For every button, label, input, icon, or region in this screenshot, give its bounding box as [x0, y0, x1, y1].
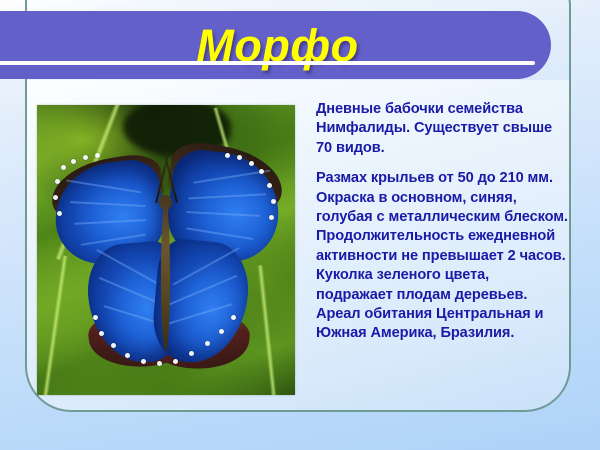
description-text-block: Дневные бабочки семейства Нимфалиды. Сущ… [316, 100, 568, 344]
paragraph-1: Дневные бабочки семейства Нимфалиды. Сущ… [316, 100, 568, 158]
page-title: Морфо [0, 11, 551, 79]
butterfly-figure [37, 105, 295, 395]
title-underline-rule [0, 61, 535, 65]
title-bar: Морфо [0, 11, 551, 79]
paragraph-2: Размах крыльев от 50 до 210 мм. Окраска … [316, 169, 568, 344]
butterfly-body [161, 201, 170, 351]
butterfly-photo [37, 105, 295, 395]
slide-root: { "slide": { "title": "Морфо", "title_co… [0, 0, 600, 450]
